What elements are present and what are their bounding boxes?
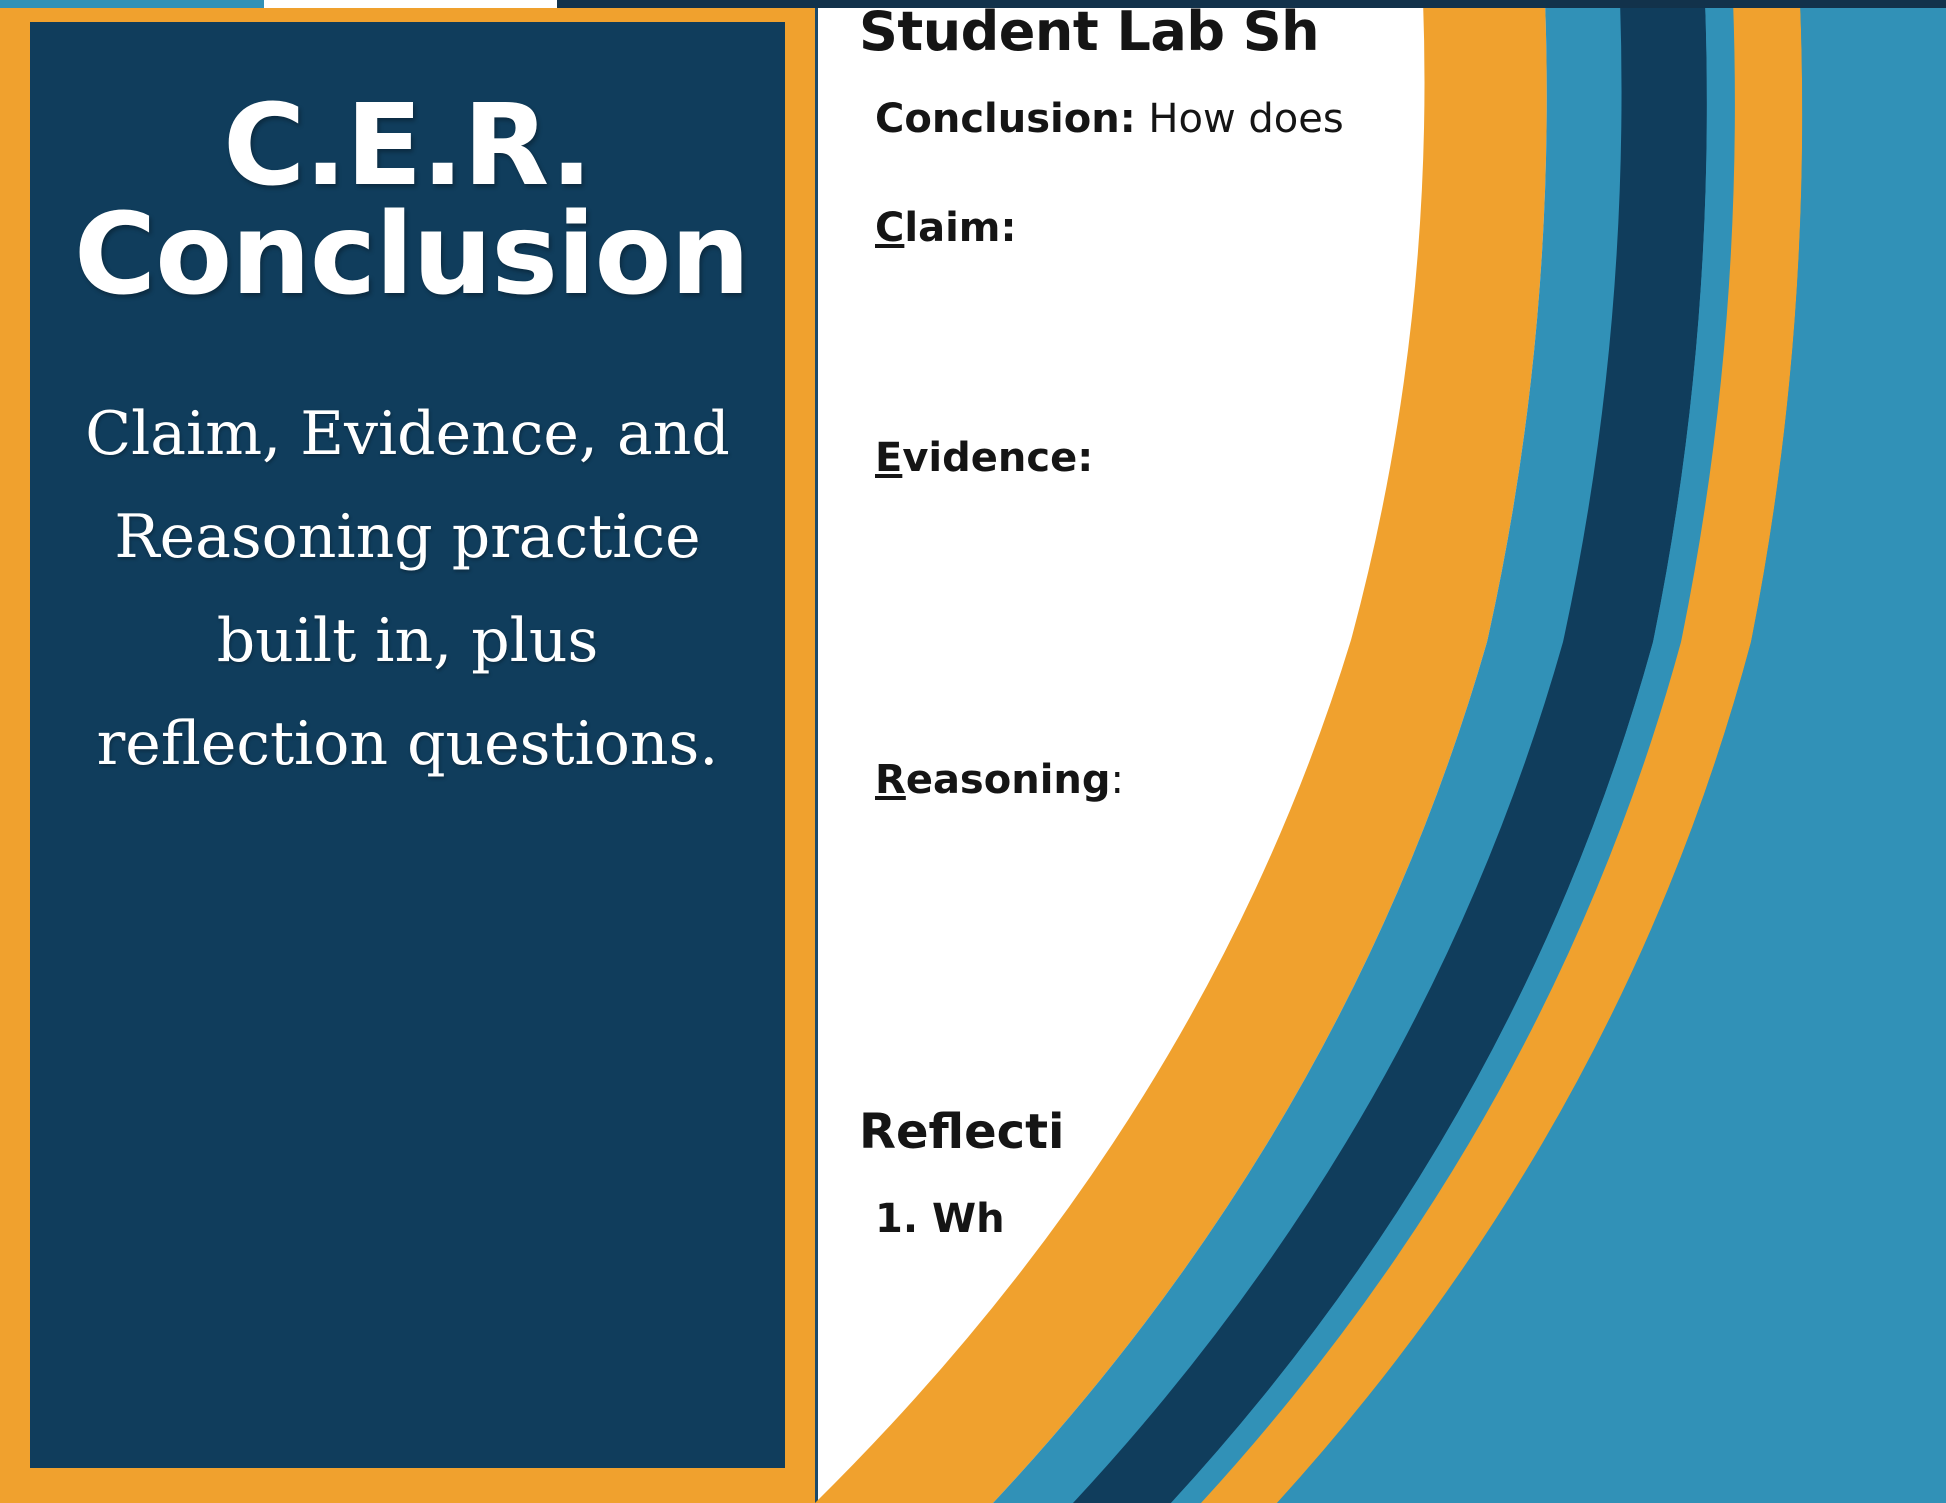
- conclusion-label: Conclusion:: [875, 96, 1136, 142]
- card-body-text: Claim, Evidence, and Reasoning practice …: [74, 383, 741, 796]
- worksheet-evidence-heading: Evidence:: [875, 435, 1093, 481]
- reasoning-colon: :: [1111, 757, 1124, 803]
- evidence-label-initial: E: [875, 435, 902, 481]
- left-orange-frame: C.E.R. Conclusion Claim, Evidence, and R…: [0, 0, 815, 1503]
- evidence-label-rest: vidence:: [902, 435, 1093, 481]
- conclusion-prompt: How does: [1136, 96, 1344, 142]
- card-title-line-1: C.E.R.: [74, 92, 741, 201]
- top-strip-navy-segment: [557, 0, 1946, 8]
- document-left-edge: [815, 0, 818, 1503]
- worksheet-reasoning-heading: Reasoning:: [875, 757, 1124, 803]
- worksheet-question-1: 1. Wh: [875, 1196, 1005, 1242]
- worksheet-document: Student Lab Sh Conclusion: How does Clai…: [815, 0, 1946, 1503]
- slide-canvas: C.E.R. Conclusion Claim, Evidence, and R…: [0, 0, 1946, 1503]
- worksheet-claim-heading: Claim:: [875, 205, 1016, 251]
- card-title: C.E.R. Conclusion: [74, 92, 741, 309]
- worksheet-preview-panel: Student Lab Sh Conclusion: How does Clai…: [815, 0, 1946, 1503]
- reasoning-label-rest: easoning: [906, 757, 1111, 803]
- top-strip-teal-segment: [0, 0, 264, 8]
- top-strip-white-segment: [264, 0, 557, 8]
- card-title-line-2: Conclusion: [74, 201, 741, 310]
- worksheet-title: Student Lab Sh: [859, 0, 1319, 63]
- worksheet-reflection-heading: Reflecti: [859, 1104, 1065, 1160]
- reasoning-label-initial: R: [875, 757, 906, 803]
- claim-label-rest: laim:: [904, 205, 1016, 251]
- cer-conclusion-card: C.E.R. Conclusion Claim, Evidence, and R…: [30, 22, 785, 1468]
- worksheet-conclusion-heading: Conclusion: How does: [875, 96, 1344, 142]
- claim-label-initial: C: [875, 205, 904, 251]
